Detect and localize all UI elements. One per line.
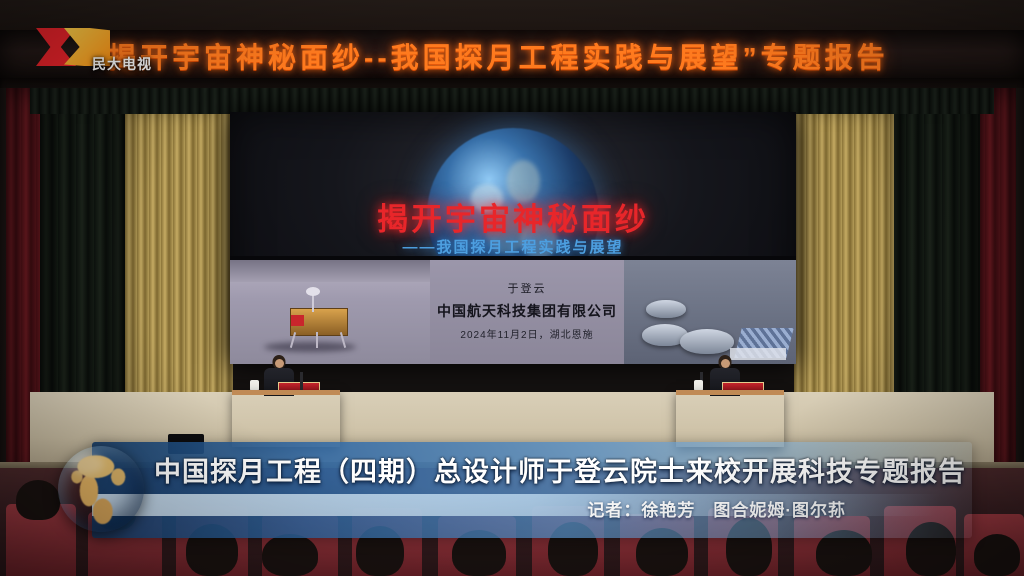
station-logo: 民大电视: [36, 26, 144, 78]
lunar-dome: [646, 300, 686, 318]
lunar-dome: [680, 329, 734, 354]
lunar-lander-icon: [282, 302, 356, 348]
slide-presenter-name: 于登云: [508, 280, 547, 296]
microphone-left: [300, 372, 303, 390]
face: [721, 359, 730, 368]
slide-subtitle: ——我国探月工程实践与展望: [230, 236, 796, 257]
lander-antenna-dish: [306, 287, 320, 296]
head: [719, 355, 732, 369]
led-banner-text: 揭开宇宙神秘面纱--我国探月工程实践与展望”专题报告: [108, 36, 889, 76]
face: [275, 359, 284, 368]
audience-head: [974, 534, 1020, 576]
station-logo-text: 民大电视: [92, 54, 152, 74]
photo-gap: [624, 256, 796, 260]
head: [273, 355, 286, 369]
led-banner-board: 揭开宇宙神秘面纱--我国探月工程实践与展望”专题报告: [0, 30, 1024, 82]
photo-gap: [430, 256, 624, 260]
stage-valance: [30, 88, 994, 114]
lunar-lander-photo: [230, 256, 430, 364]
desk-right: [676, 390, 784, 447]
china-flag-decal: [291, 315, 304, 326]
slide-photo-band: 于登云 中国航天科技集团有限公司 2024年11月2日，湖北恩施: [230, 256, 796, 364]
slide-credits-block: 于登云 中国航天科技集团有限公司 2024年11月2日，湖北恩施: [430, 256, 624, 364]
lower-third-banner: 中国探月工程（四期）总设计师于登云院士来校开展科技专题报告 记者：徐艳芳 图合妮…: [92, 442, 972, 538]
lower-third-byline: 记者：徐艳芳 图合妮姆·图尔荪: [587, 496, 846, 521]
audience-head: [16, 480, 60, 520]
photo-gap: [230, 256, 430, 260]
lunar-base-render: [624, 256, 796, 364]
desk-left: [232, 390, 340, 447]
lower-third-headline: 中国探月工程（四期）总设计师于登云院士来校开展科技专题报告: [154, 450, 966, 489]
audience-head: [262, 534, 318, 576]
slide-organization: 中国航天科技集团有限公司: [437, 301, 617, 321]
lander-leg: [316, 332, 318, 348]
globe-icon: [58, 446, 144, 532]
broadcast-frame: 揭开宇宙神秘面纱--我国探月工程实践与展望”专题报告 揭开宇宙神秘面纱 ——我国…: [0, 0, 1024, 576]
slide-title: 揭开宇宙神秘面纱: [230, 194, 796, 239]
projection-screen: 揭开宇宙神秘面纱 ——我国探月工程实践与展望: [230, 112, 796, 364]
slide-date-location: 2024年11月2日，湖北恩施: [460, 326, 593, 341]
